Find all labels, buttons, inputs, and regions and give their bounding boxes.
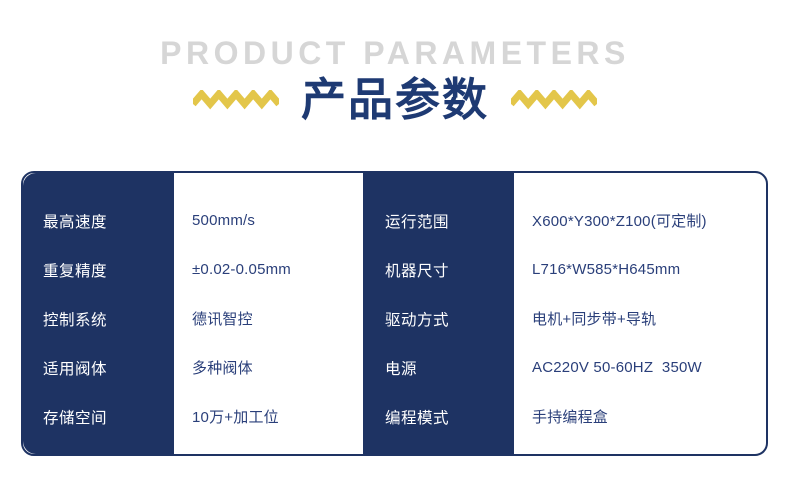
parameter-label: 最高速度 <box>23 210 174 232</box>
zigzag-decoration-right-icon <box>511 90 597 110</box>
parameter-rows-left: 最高速度 500mm/s 重复精度 ±0.02-0.05mm 控制系统 德讯智控… <box>23 173 363 454</box>
parameter-group-left: 最高速度 500mm/s 重复精度 ±0.02-0.05mm 控制系统 德讯智控… <box>23 173 363 454</box>
parameter-label: 编程模式 <box>363 406 514 428</box>
page-header: PRODUCT PARAMETERS 产品参数 <box>0 0 790 150</box>
table-row: 运行范围 X600*Y300*Z100(可定制) <box>363 196 766 245</box>
table-row: 重复精度 ±0.02-0.05mm <box>23 245 363 294</box>
table-row: 驱动方式 电机+同步带+导轨 <box>363 294 766 343</box>
parameter-value: AC220V 50-60HZ 350W <box>514 359 702 376</box>
table-row: 电源 AC220V 50-60HZ 350W <box>363 343 766 392</box>
parameter-rows-right: 运行范围 X600*Y300*Z100(可定制) 机器尺寸 L716*W585*… <box>363 173 766 454</box>
table-row: 机器尺寸 L716*W585*H645mm <box>363 245 766 294</box>
parameter-label: 控制系统 <box>23 308 174 330</box>
parameter-value: ±0.02-0.05mm <box>174 261 291 278</box>
parameter-value: 500mm/s <box>174 212 255 229</box>
parameter-value: L716*W585*H645mm <box>514 261 680 278</box>
zigzag-decoration-left-icon <box>193 90 279 110</box>
parameter-label: 存储空间 <box>23 406 174 428</box>
table-row: 存储空间 10万+加工位 <box>23 392 363 441</box>
parameter-label: 适用阀体 <box>23 357 174 379</box>
parameter-label: 运行范围 <box>363 210 514 232</box>
parameter-label: 电源 <box>363 357 514 379</box>
page-title-chinese: 产品参数 <box>301 72 489 128</box>
parameter-label: 机器尺寸 <box>363 259 514 281</box>
table-row: 控制系统 德讯智控 <box>23 294 363 343</box>
parameter-value: 10万+加工位 <box>174 406 279 427</box>
product-parameters-table: 最高速度 500mm/s 重复精度 ±0.02-0.05mm 控制系统 德讯智控… <box>21 171 768 456</box>
table-row: 最高速度 500mm/s <box>23 196 363 245</box>
parameter-value: 手持编程盒 <box>514 406 608 427</box>
parameter-label: 驱动方式 <box>363 308 514 330</box>
page-title-english: PRODUCT PARAMETERS <box>0 36 790 70</box>
parameter-group-right: 运行范围 X600*Y300*Z100(可定制) 机器尺寸 L716*W585*… <box>363 173 766 454</box>
parameter-value: 德讯智控 <box>174 308 253 329</box>
table-row: 适用阀体 多种阀体 <box>23 343 363 392</box>
page-title-row: 产品参数 <box>0 70 790 130</box>
table-row: 编程模式 手持编程盒 <box>363 392 766 441</box>
parameter-value: 多种阀体 <box>174 357 253 378</box>
parameter-value: X600*Y300*Z100(可定制) <box>514 210 707 231</box>
parameter-value: 电机+同步带+导轨 <box>514 308 656 329</box>
parameter-label: 重复精度 <box>23 259 174 281</box>
